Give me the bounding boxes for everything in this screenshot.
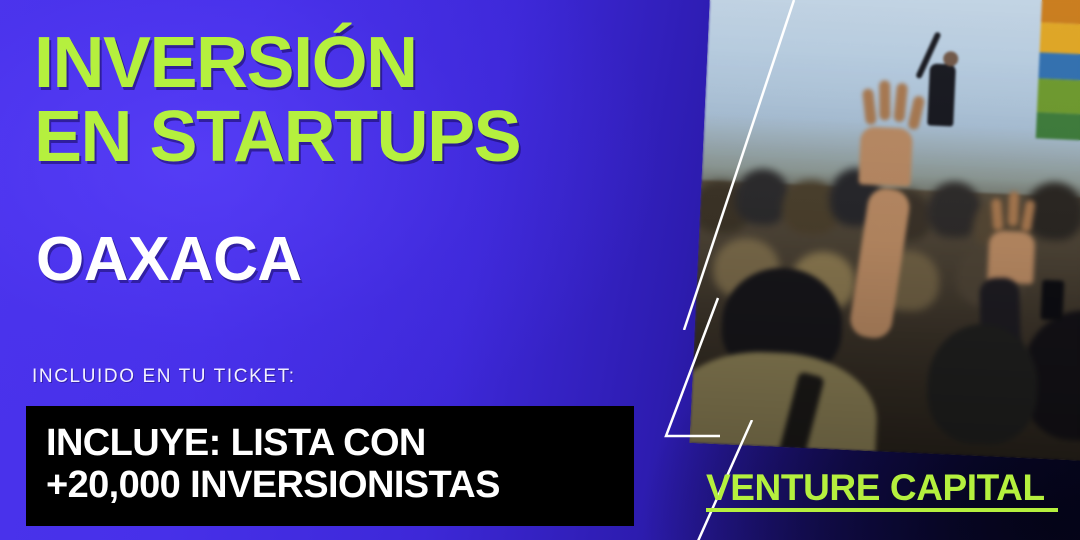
city-name: OAXACA (36, 228, 302, 292)
event-banner: INVERSIÓN EN STARTUPS OAXACA INCLUIDO EN… (0, 0, 1080, 540)
highlight-box-line-1: INCLUYE: LISTA CON (46, 423, 426, 463)
headline-line-2: EN STARTUPS (34, 100, 734, 174)
headline-line-1: INVERSIÓN (34, 26, 734, 100)
footer-tag: VENTURE CAPITAL (706, 468, 1045, 508)
footer-tag-underline (706, 508, 1058, 512)
highlight-box-line-2: +20,000 INVERSIONISTAS (46, 465, 500, 505)
photo-overlay (690, 0, 1080, 461)
audience-photo (690, 0, 1080, 461)
included-label: INCLUIDO EN TU TICKET: (32, 366, 296, 388)
page-title: INVERSIÓN EN STARTUPS (34, 26, 734, 174)
highlight-box: INCLUYE: LISTA CON +20,000 INVERSIONISTA… (26, 406, 634, 526)
audience-photo-content (690, 0, 1080, 461)
